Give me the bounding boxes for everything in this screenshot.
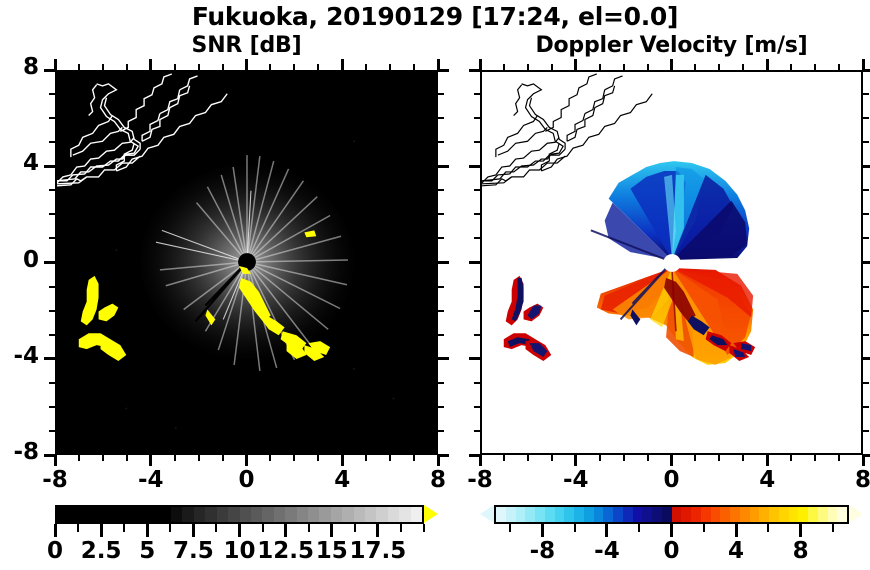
x-tick-snr <box>222 455 224 461</box>
panel-title-doppler: Doppler Velocity [m/s] <box>480 33 863 58</box>
x-tick-doppler <box>838 455 840 461</box>
x-tick-top-snr <box>389 64 391 70</box>
colorbar-segment <box>496 507 506 522</box>
x-tick-snr <box>78 455 80 461</box>
y-tick-right-doppler <box>863 141 869 143</box>
colorbar-segment <box>828 507 838 522</box>
y-tick-snr <box>44 261 55 264</box>
x-tick-doppler <box>790 455 792 461</box>
x-tick-snr <box>198 455 200 461</box>
colorbar-tick-doppler <box>767 524 769 532</box>
x-tick-doppler <box>551 455 553 461</box>
colorbar-segment <box>769 507 779 522</box>
x-tick-top-doppler <box>527 64 529 70</box>
colorbar-tick-snr <box>100 524 103 537</box>
colorbar-segment <box>285 507 296 522</box>
colorbar-segment <box>205 507 216 522</box>
colorbar-tick-doppler <box>799 524 802 537</box>
y-tick-right-snr <box>438 165 449 168</box>
x-tick-top-snr <box>198 64 200 70</box>
x-tick-doppler <box>479 455 482 466</box>
x-tick-snr <box>102 455 104 461</box>
y-tick-right-doppler <box>863 430 869 432</box>
y-tick-doppler <box>474 213 480 215</box>
colorbar-tick-doppler <box>832 524 834 532</box>
y-tick-snr <box>49 334 55 336</box>
y-tick-right-snr <box>438 334 444 336</box>
y-tick-snr <box>49 406 55 408</box>
y-tick-right-doppler <box>863 261 870 264</box>
colorbar-segment <box>342 507 353 522</box>
x-tick-snr <box>365 455 367 461</box>
y-tick-snr <box>49 93 55 95</box>
x-tick-top-snr <box>317 64 319 70</box>
colorbar-segment <box>103 507 114 522</box>
x-tick-doppler <box>670 455 673 466</box>
y-tick-doppler <box>474 334 480 336</box>
figure-root: Fukuoka, 20190129 [17:24, el=0.0] SNR [d… <box>0 0 870 570</box>
x-tick-top-snr <box>102 64 104 70</box>
x-tick-top-snr <box>126 64 128 70</box>
colorbar-segment <box>331 507 342 522</box>
xtick-label-snr: -4 <box>111 467 191 493</box>
x-tick-doppler <box>574 455 577 466</box>
xtick-label-doppler: -8 <box>440 467 520 493</box>
colorbar-label-doppler: 8 <box>761 538 841 564</box>
x-tick-top-snr <box>245 59 248 70</box>
colorbar-tick-snr <box>262 524 264 532</box>
colorbar-segment <box>750 507 760 522</box>
y-tick-snr <box>49 310 55 312</box>
ytick-label-snr: 8 <box>0 54 39 80</box>
y-tick-doppler <box>474 141 480 143</box>
x-tick-top-doppler <box>503 64 505 70</box>
colorbar-tick-snr <box>308 524 310 532</box>
colorbar-segment <box>808 507 818 522</box>
colorbar-doppler[interactable] <box>494 505 849 524</box>
colorbar-segment <box>365 507 376 522</box>
colorbar-tick-snr <box>354 524 356 532</box>
colorbar-segment <box>633 507 643 522</box>
colorbar-snr[interactable] <box>55 505 424 524</box>
colorbar-segment <box>319 507 330 522</box>
colorbar-tick-snr <box>215 524 217 532</box>
y-tick-right-snr <box>438 310 444 312</box>
y-tick-right-doppler <box>863 165 870 168</box>
xtick-label-doppler: 0 <box>632 467 712 493</box>
y-tick-right-snr <box>438 117 444 119</box>
x-tick-doppler <box>623 455 625 461</box>
x-tick-top-doppler <box>599 64 601 70</box>
colorbar-segment <box>525 507 535 522</box>
x-tick-top-snr <box>341 59 344 70</box>
colorbar-segment <box>148 507 159 522</box>
colorbar-tick-snr <box>123 524 125 532</box>
y-tick-right-snr <box>438 237 444 239</box>
y-tick-doppler <box>469 261 480 264</box>
colorbar-segment <box>297 507 308 522</box>
colorbar-tick-doppler <box>638 524 640 532</box>
y-tick-right-snr <box>438 141 444 143</box>
x-tick-snr <box>437 455 440 466</box>
colorbar-segment <box>399 507 410 522</box>
colorbar-over-arrow-snr <box>424 505 438 523</box>
x-tick-doppler <box>599 455 601 461</box>
x-tick-snr <box>54 455 57 466</box>
y-tick-right-doppler <box>863 286 869 288</box>
colorbar-tick-snr <box>146 524 149 537</box>
x-tick-top-doppler <box>694 64 696 70</box>
x-tick-top-doppler <box>814 64 816 70</box>
y-tick-doppler <box>474 189 480 191</box>
y-tick-right-doppler <box>863 93 869 95</box>
colorbar-segment <box>217 507 228 522</box>
figure-title: Fukuoka, 20190129 [17:24, el=0.0] <box>0 2 870 31</box>
x-tick-snr <box>341 455 344 466</box>
colorbar-segment <box>564 507 574 522</box>
y-tick-right-snr <box>438 69 449 72</box>
colorbar-segment <box>251 507 262 522</box>
y-tick-right-snr <box>438 454 449 457</box>
colorbar-segment <box>798 507 808 522</box>
y-tick-doppler <box>474 93 480 95</box>
x-tick-top-doppler <box>551 64 553 70</box>
colorbar-segment <box>91 507 102 522</box>
xtick-label-doppler: 8 <box>823 467 870 493</box>
colorbar-tick-doppler <box>735 524 738 537</box>
colorbar-segment <box>711 507 721 522</box>
colorbar-tick-snr <box>400 524 402 532</box>
x-tick-snr <box>317 455 319 461</box>
y-tick-right-snr <box>438 357 449 360</box>
x-tick-snr <box>269 455 271 461</box>
colorbar-tick-snr <box>284 524 287 537</box>
y-tick-doppler <box>469 454 480 457</box>
y-tick-right-snr <box>438 189 444 191</box>
colorbar-tick-doppler <box>703 524 705 532</box>
x-tick-top-snr <box>365 64 367 70</box>
colorbar-segment <box>652 507 662 522</box>
x-tick-top-doppler <box>766 59 769 70</box>
y-tick-right-snr <box>438 93 444 95</box>
colorbar-tick-doppler <box>509 524 511 532</box>
x-tick-snr <box>174 455 176 461</box>
colorbar-segment <box>740 507 750 522</box>
ytick-label-snr: 4 <box>0 150 39 176</box>
x-tick-snr <box>245 455 248 466</box>
x-tick-doppler <box>503 455 505 461</box>
colorbar-segment <box>171 507 182 522</box>
colorbar-tick-snr <box>423 524 425 532</box>
doppler-canvas <box>482 72 861 453</box>
y-tick-right-doppler <box>863 237 869 239</box>
y-tick-snr <box>49 213 55 215</box>
ytick-label-snr: 0 <box>0 247 39 273</box>
y-tick-doppler <box>469 357 480 360</box>
colorbar-segment <box>720 507 730 522</box>
x-tick-top-doppler <box>718 64 720 70</box>
y-tick-snr <box>49 189 55 191</box>
colorbar-segment <box>262 507 273 522</box>
x-tick-doppler <box>694 455 696 461</box>
x-tick-snr <box>149 455 152 466</box>
x-tick-doppler <box>527 455 529 461</box>
ytick-label-snr: -4 <box>0 343 39 369</box>
colorbar-segment <box>80 507 91 522</box>
colorbar-segment <box>68 507 79 522</box>
xtick-label-doppler: 4 <box>727 467 807 493</box>
colorbar-segment <box>194 507 205 522</box>
colorbar-segment <box>114 507 125 522</box>
y-tick-right-snr <box>438 286 444 288</box>
y-tick-right-snr <box>438 406 444 408</box>
y-tick-right-snr <box>438 213 444 215</box>
snr-canvas <box>57 72 436 453</box>
colorbar-segment <box>57 507 68 522</box>
x-tick-snr <box>413 455 415 461</box>
x-tick-top-doppler <box>623 64 625 70</box>
colorbar-label-snr: 17.5 <box>338 538 418 564</box>
colorbar-segment <box>506 507 516 522</box>
y-tick-snr <box>49 141 55 143</box>
colorbar-segment <box>137 507 148 522</box>
x-tick-doppler <box>862 455 865 466</box>
colorbar-segment <box>584 507 594 522</box>
y-tick-right-doppler <box>863 213 869 215</box>
colorbar-segment <box>182 507 193 522</box>
x-tick-top-snr <box>269 64 271 70</box>
y-tick-snr <box>49 117 55 119</box>
y-tick-snr <box>44 165 55 168</box>
x-tick-doppler <box>718 455 720 461</box>
colorbar-segment <box>681 507 691 522</box>
colorbar-tick-snr <box>169 524 171 532</box>
colorbar-segment <box>594 507 604 522</box>
x-tick-top-doppler <box>574 59 577 70</box>
y-tick-snr <box>49 286 55 288</box>
y-tick-right-doppler <box>863 382 869 384</box>
panel-title-snr: SNR [dB] <box>55 33 438 58</box>
colorbar-segment <box>642 507 652 522</box>
xtick-label-snr: -8 <box>15 467 95 493</box>
x-tick-top-snr <box>293 64 295 70</box>
colorbar-segment <box>759 507 769 522</box>
ytick-label-snr: -8 <box>0 439 39 465</box>
x-tick-top-doppler <box>742 64 744 70</box>
x-tick-top-doppler <box>670 59 673 70</box>
colorbar-tick-doppler <box>574 524 576 532</box>
colorbar-tick-snr <box>376 524 379 537</box>
xtick-label-snr: 0 <box>207 467 287 493</box>
colorbar-segment <box>623 507 633 522</box>
colorbar-segment <box>376 507 387 522</box>
x-tick-doppler <box>742 455 744 461</box>
colorbar-under-arrow-doppler <box>480 505 494 523</box>
colorbar-segment <box>354 507 365 522</box>
y-tick-snr <box>44 69 55 72</box>
y-tick-doppler <box>474 406 480 408</box>
colorbar-segment <box>555 507 565 522</box>
colorbar-over-arrow-doppler <box>849 505 863 523</box>
plot-area-snr[interactable] <box>55 70 438 455</box>
colorbar-segment <box>308 507 319 522</box>
colorbar-segment <box>613 507 623 522</box>
xtick-label-snr: 4 <box>302 467 382 493</box>
y-tick-snr <box>49 237 55 239</box>
y-tick-right-snr <box>438 430 444 432</box>
x-tick-top-snr <box>78 64 80 70</box>
colorbar-tick-snr <box>77 524 79 532</box>
x-tick-snr <box>126 455 128 461</box>
y-tick-doppler <box>474 286 480 288</box>
colorbar-segment <box>388 507 399 522</box>
colorbar-segment <box>818 507 828 522</box>
y-tick-snr <box>44 454 55 457</box>
colorbar-segment <box>662 507 672 522</box>
colorbar-segment <box>701 507 711 522</box>
colorbar-tick-doppler <box>605 524 608 537</box>
colorbar-segment <box>535 507 545 522</box>
y-tick-right-doppler <box>863 189 869 191</box>
y-tick-right-doppler <box>863 406 869 408</box>
y-tick-doppler <box>474 382 480 384</box>
y-tick-snr <box>49 430 55 432</box>
colorbar-segment <box>672 507 682 522</box>
xtick-label-doppler: -4 <box>536 467 616 493</box>
colorbar-segment <box>240 507 251 522</box>
colorbar-segment <box>516 507 526 522</box>
colorbar-tick-snr <box>238 524 241 537</box>
x-tick-snr <box>293 455 295 461</box>
x-tick-doppler <box>814 455 816 461</box>
x-tick-top-doppler <box>838 64 840 70</box>
colorbar-tick-snr <box>54 524 57 537</box>
x-tick-top-doppler <box>647 64 649 70</box>
colorbar-segment <box>545 507 555 522</box>
x-tick-top-snr <box>149 59 152 70</box>
colorbar-segment <box>274 507 285 522</box>
plot-area-doppler[interactable] <box>480 70 863 455</box>
colorbar-segment <box>228 507 239 522</box>
x-tick-top-snr <box>174 64 176 70</box>
colorbar-tick-snr <box>192 524 195 537</box>
y-tick-right-doppler <box>863 117 869 119</box>
y-tick-snr <box>44 357 55 360</box>
doppler-plot-svg <box>482 72 861 453</box>
y-tick-right-snr <box>438 382 444 384</box>
y-tick-doppler <box>474 430 480 432</box>
y-tick-right-doppler <box>863 357 870 360</box>
colorbar-segment <box>691 507 701 522</box>
colorbar-segment <box>603 507 613 522</box>
x-tick-top-snr <box>413 64 415 70</box>
x-tick-doppler <box>766 455 769 466</box>
y-tick-right-snr <box>438 261 449 264</box>
y-tick-right-doppler <box>863 310 869 312</box>
x-tick-doppler <box>647 455 649 461</box>
y-tick-snr <box>49 382 55 384</box>
colorbar-tick-doppler <box>541 524 544 537</box>
colorbar-segment <box>160 507 171 522</box>
y-tick-doppler <box>474 237 480 239</box>
y-tick-right-doppler <box>863 334 869 336</box>
colorbar-segment <box>789 507 799 522</box>
y-tick-doppler <box>469 165 480 168</box>
colorbar-tick-snr <box>330 524 333 537</box>
colorbar-tick-doppler <box>670 524 673 537</box>
snr-plot-svg <box>57 72 436 453</box>
x-tick-top-doppler <box>790 64 792 70</box>
colorbar-segment <box>779 507 789 522</box>
y-tick-doppler <box>474 117 480 119</box>
colorbar-segment <box>125 507 136 522</box>
colorbar-segment <box>574 507 584 522</box>
colorbar-segment <box>837 507 847 522</box>
y-tick-doppler <box>474 310 480 312</box>
y-tick-doppler <box>469 69 480 72</box>
colorbar-segment <box>730 507 740 522</box>
colorbar-segment <box>411 507 422 522</box>
y-tick-right-doppler <box>863 69 870 72</box>
x-tick-top-snr <box>222 64 224 70</box>
x-tick-snr <box>389 455 391 461</box>
